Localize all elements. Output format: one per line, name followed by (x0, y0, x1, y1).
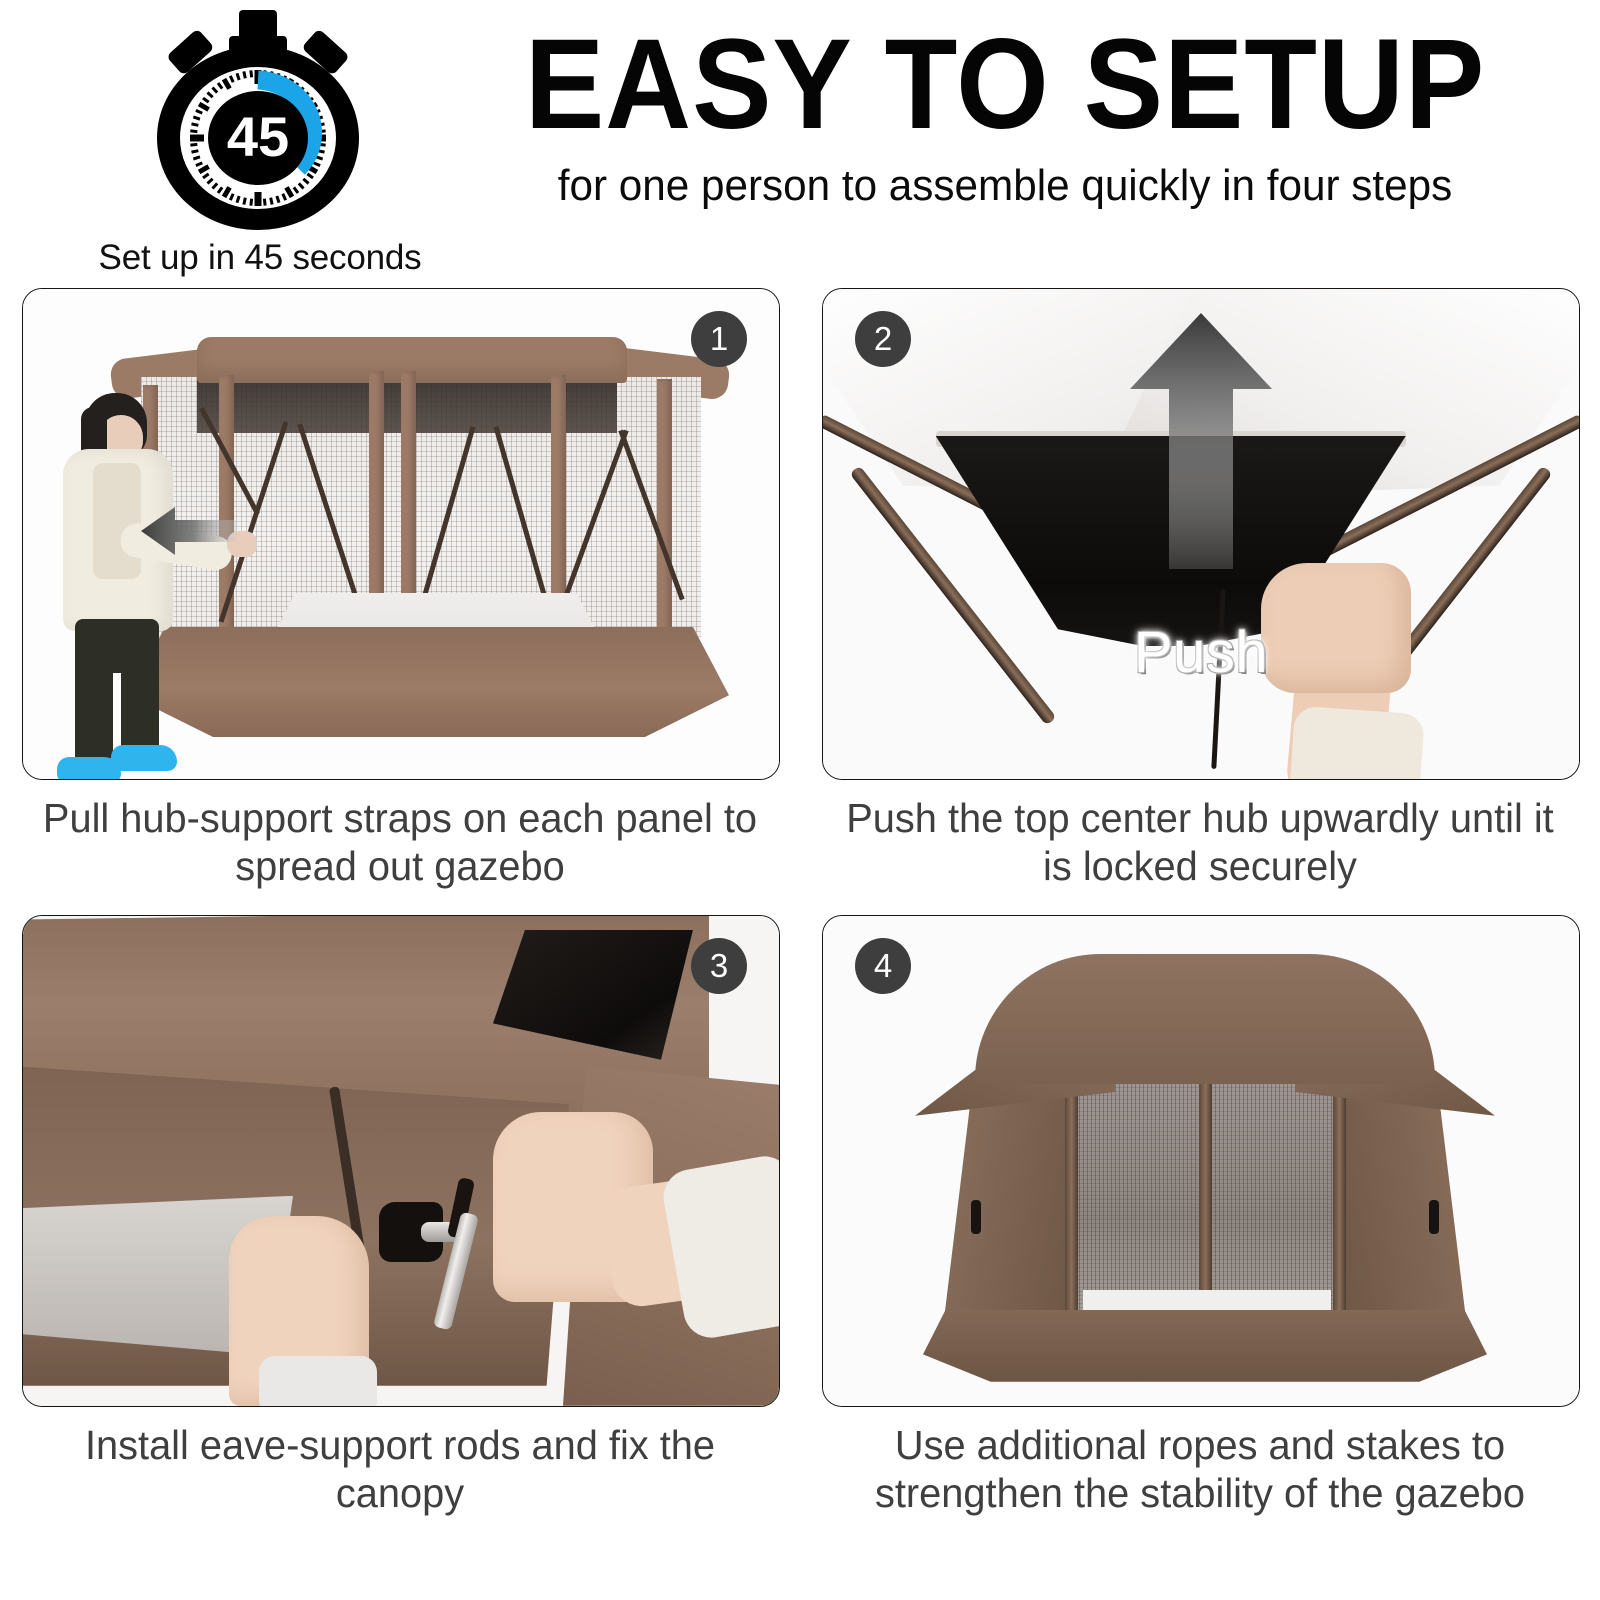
scene-finished-gazebo (823, 916, 1579, 1406)
hand-pushing-hub (1261, 563, 1411, 693)
step-caption-2: Push the top center hub upwardly until i… (833, 794, 1566, 891)
step-cell-2: Push 2 Push the top center hub upwardly … (800, 288, 1600, 891)
gazebo-post-right (1333, 1070, 1346, 1346)
scene-install-rods (23, 916, 779, 1406)
gazebo-tie-left (971, 1200, 981, 1234)
stopwatch-value: 45 (227, 105, 289, 168)
header: 45 Set up in 45 seconds EASY TO SETUP fo… (0, 0, 1600, 288)
step-caption-4: Use additional ropes and stakes to stren… (833, 1421, 1566, 1518)
arrow-up-icon (1126, 311, 1276, 576)
step-cell-4: 4 Use additional ropes and stakes to str… (800, 915, 1600, 1518)
step-badge-4: 4 (855, 938, 911, 994)
person-shoe-cover-right (111, 745, 177, 771)
step-caption-3: Install eave-support rods and fix the ca… (33, 1421, 766, 1518)
gazebo-roof (975, 954, 1435, 1084)
step-badge-3: 3 (691, 938, 747, 994)
steps-row-top: 1 Pull hub-support straps on each panel … (0, 288, 1600, 891)
steps-row-bottom: 3 Install eave-support rods and fix the … (0, 915, 1600, 1518)
step-badge-2: 2 (855, 311, 911, 367)
step-cell-1: 1 Pull hub-support straps on each panel … (0, 288, 800, 891)
gazebo-wall-left (945, 1072, 1077, 1344)
scene-push-hub: Push (823, 289, 1579, 779)
sleeve-cuff (1289, 706, 1425, 780)
person-shirt (93, 463, 141, 579)
step-image-2: Push 2 (822, 288, 1580, 780)
timer-caption: Set up in 45 seconds (0, 238, 520, 278)
gazebo-wall-right (1333, 1072, 1465, 1344)
step-cell-3: 3 Install eave-support rods and fix the … (0, 915, 800, 1518)
gazebo-tie-right (1429, 1200, 1439, 1234)
title-block: EASY TO SETUP for one person to assemble… (430, 22, 1580, 211)
step-image-4: 4 (822, 915, 1580, 1407)
page-title: EASY TO SETUP (470, 22, 1540, 147)
step-image-3: 3 (22, 915, 780, 1407)
gazebo-skirt (129, 627, 729, 737)
gazebo-post-left (1065, 1070, 1078, 1346)
step-caption-1: Pull hub-support straps on each panel to… (33, 794, 766, 891)
arrow-left-icon (141, 503, 237, 559)
frame-post (657, 379, 672, 661)
sleeve-cuff-left (259, 1356, 377, 1407)
stopwatch-icon: 45 (143, 8, 373, 232)
steps-grid: 1 Pull hub-support straps on each panel … (0, 288, 1600, 1518)
push-label: Push (1134, 619, 1268, 686)
page-subtitle: for one person to assemble quickly in fo… (453, 161, 1557, 211)
step-badge-1: 1 (691, 311, 747, 367)
gazebo-assembled (915, 954, 1495, 1382)
gazebo-skirt (923, 1310, 1487, 1382)
step-image-1: 1 (22, 288, 780, 780)
scene-pull-straps (23, 289, 779, 779)
